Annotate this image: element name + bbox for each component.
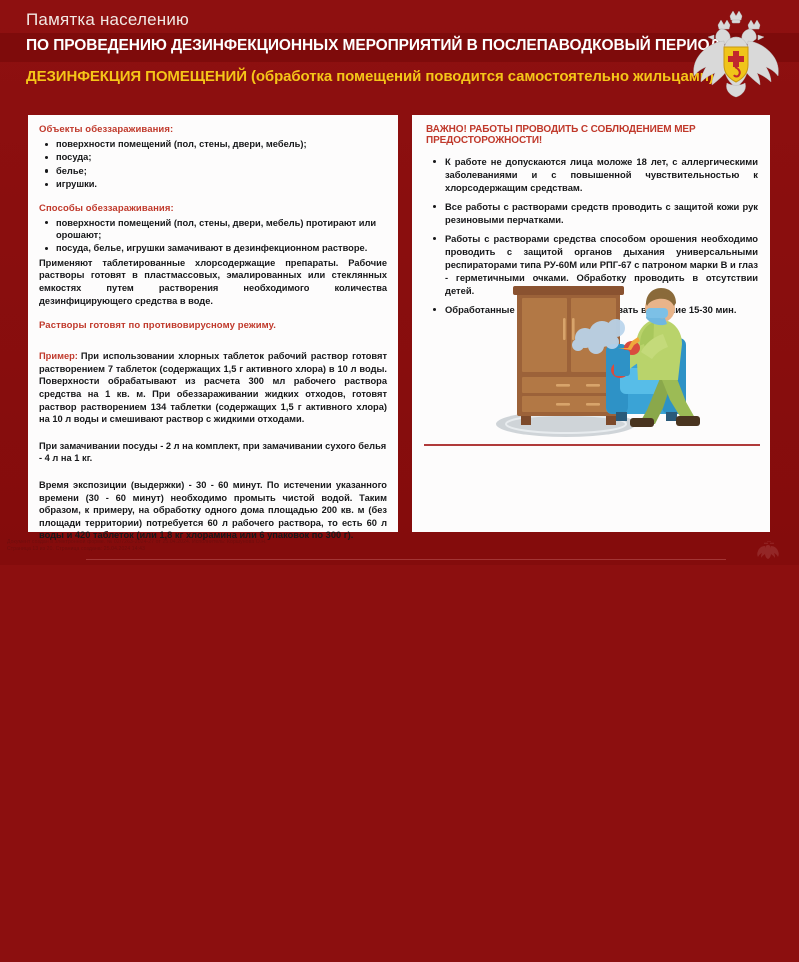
list-item: белье; <box>56 165 387 177</box>
rospotrebnadzor-eagle-emblem <box>683 9 789 101</box>
exposure-paragraph: Время экспозиции (выдержки) - 30 - 60 ми… <box>39 479 387 542</box>
list-item: посуда, белье, игрушки замачивают в дези… <box>56 242 387 254</box>
objects-heading: Объекты обеззараживания: <box>39 124 387 135</box>
brand-footer: РОСПОТРЕБНАДЗОР ЕДИНЫЙ КОНСУЛЬТАЦИОННЫЙ … <box>412 447 770 532</box>
list-item: К работе не допускаются лица моложе 18 л… <box>445 155 758 194</box>
header-subtitle: Памятка населению <box>26 10 189 30</box>
example-label: Пример: <box>39 351 78 361</box>
document-footer-line1: Документ создан в электронной форме. № 0… <box>7 539 507 546</box>
methods-heading: Способы обеззараживания: <box>39 203 387 214</box>
regime-heading: Растворы готовят по противовирусному реж… <box>39 320 387 331</box>
methods-paragraph: Применяют таблетированные хлорсодержащие… <box>39 257 387 307</box>
document-footer: Документ создан в электронной форме. № 0… <box>7 539 507 554</box>
soaking-paragraph: При замачивании посуды - 2 л на комплект… <box>39 440 387 465</box>
example-text: При использовании хлорных таблеток рабоч… <box>39 351 387 424</box>
footer-divider <box>86 559 726 560</box>
methods-list: поверхности помещений (пол, стены, двери… <box>39 217 387 255</box>
list-item: Все работы с растворами средств проводит… <box>445 200 758 226</box>
header-highlight: ДЕЗИНФЕКЦИЯ ПОМЕЩЕНИЙ (обработка помещен… <box>26 68 714 85</box>
eagle-watermark-icon <box>757 541 779 561</box>
important-heading: ВАЖНО! РАБОТЫ ПРОВОДИТЬ С СОБЛЮДЕНИЕМ МЕ… <box>426 124 758 146</box>
person-spraying-disinfectant-illustration <box>420 272 762 440</box>
header-title: ПО ПРОВЕДЕНИЮ ДЕЗИНФЕКЦИОННЫХ МЕРОПРИЯТИ… <box>26 37 724 55</box>
left-content-panel: Объекты обеззараживания: поверхности пом… <box>28 115 398 532</box>
document-footer-line2: Страница 13 из 20. Страница создана: 25.… <box>7 546 507 553</box>
list-item: посуда; <box>56 151 387 163</box>
list-item: поверхности помещений (пол, стены, двери… <box>56 138 387 150</box>
list-item: игрушки. <box>56 178 387 190</box>
example-paragraph: Пример:При использовании хлорных таблето… <box>39 350 387 426</box>
objects-list: поверхности помещений (пол, стены, двери… <box>39 138 387 191</box>
poster-header: Памятка населению ПО ПРОВЕДЕНИЮ ДЕЗИНФЕК… <box>0 0 799 101</box>
poster-canvas: Памятка населению ПО ПРОВЕДЕНИЮ ДЕЗИНФЕК… <box>0 0 799 565</box>
list-item: поверхности помещений (пол, стены, двери… <box>56 217 387 242</box>
brand-divider <box>424 444 760 446</box>
